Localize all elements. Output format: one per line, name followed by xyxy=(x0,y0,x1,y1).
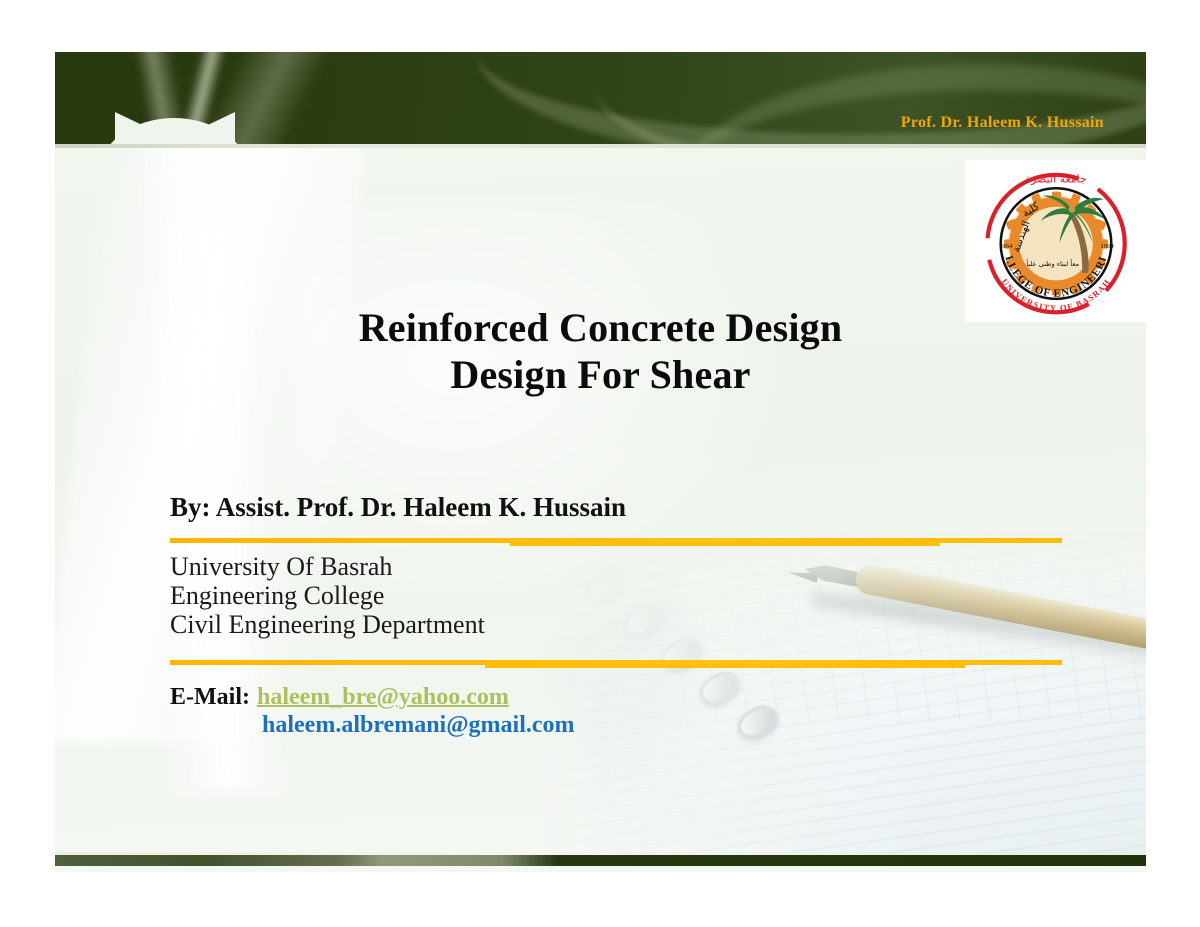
gold-divider-bottom-segment-end xyxy=(955,661,1062,665)
university-logo: جامعة البصرة كلية الهندسة معاً لبناء وطن… xyxy=(965,160,1146,322)
email-label: E-Mail: xyxy=(170,684,250,710)
email-block: E-Mail:haleem_bre@yahoo.com haleem.albre… xyxy=(170,684,575,739)
header-professor-name: Prof. Dr. Haleem K. Hussain xyxy=(901,114,1104,132)
university-logo-svg: جامعة البصرة كلية الهندسة معاً لبناء وطن… xyxy=(970,164,1142,319)
email-link-gmail[interactable]: haleem.albremani@gmail.com xyxy=(262,712,575,739)
logo-arabic-motto: معاً لبناء وطني علياً xyxy=(1025,258,1079,267)
affiliation-block: University Of Basrah Engineering College… xyxy=(170,552,485,639)
gold-divider-top-segment xyxy=(510,542,940,546)
affiliation-line-1: University Of Basrah xyxy=(170,552,485,581)
author-line: By: Assist. Prof. Dr. Haleem K. Hussain xyxy=(170,492,626,523)
slide-footer-bar xyxy=(55,855,1146,866)
affiliation-line-2: Engineering College xyxy=(170,581,485,610)
banner-underline xyxy=(55,144,1146,148)
notebook-pen-photo xyxy=(526,524,1146,854)
gold-divider-top-segment-end xyxy=(930,539,1062,543)
affiliation-line-3: Civil Engineering Department xyxy=(170,610,485,639)
presentation-slide: Prof. Dr. Haleem K. Hussain xyxy=(55,52,1146,872)
logo-arabic-top: جامعة البصرة xyxy=(1025,172,1086,185)
email-row-primary: E-Mail:haleem_bre@yahoo.com xyxy=(170,684,575,711)
gold-divider-bottom-segment xyxy=(485,664,965,668)
email-link-yahoo[interactable]: haleem_bre@yahoo.com xyxy=(257,684,509,710)
logo-year-right: 1964 xyxy=(1100,242,1114,249)
title-line-2: Design For Shear xyxy=(55,351,1146,398)
logo-year-left: 1964 xyxy=(999,242,1013,249)
